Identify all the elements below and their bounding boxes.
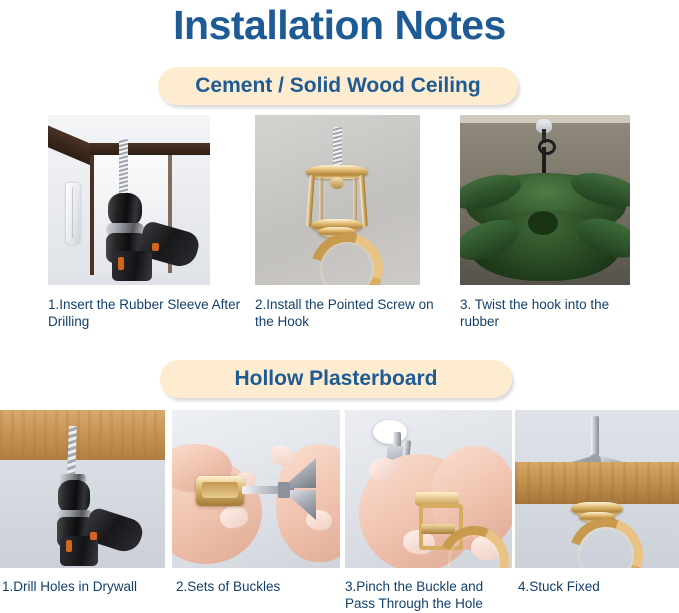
section-badge-label: Hollow Plasterboard <box>234 367 437 391</box>
step-image-drill-holes-in-drywall <box>0 410 165 568</box>
step-caption-install-pointed-screw: 2.Install the Pointed Screw on the Hook <box>255 296 445 330</box>
step-image-stuck-fixed <box>515 410 679 568</box>
section-badge-label: Cement / Solid Wood Ceiling <box>195 74 480 98</box>
page-title: Installation Notes <box>0 2 679 48</box>
step-caption-stuck-fixed: 4.Stuck Fixed <box>518 578 668 595</box>
step-image-install-pointed-screw <box>255 115 420 285</box>
step-caption-pinch-the-buckle: 3.Pinch the Buckle and Pass Through the … <box>345 578 515 612</box>
step-image-twist-hook-into-rubber <box>460 115 630 285</box>
step-caption-drill-holes-in-drywall: 1.Drill Holes in Drywall <box>2 578 172 595</box>
step-caption-twist-hook-into-rubber: 3. Twist the hook into the rubber <box>460 296 650 330</box>
step-image-sets-of-buckles <box>172 410 340 568</box>
step-image-pinch-the-buckle <box>345 410 512 568</box>
step-caption-insert-rubber-sleeve: 1.Insert the Rubber Sleeve After Drillin… <box>48 296 248 330</box>
step-caption-sets-of-buckles: 2.Sets of Buckles <box>176 578 336 595</box>
step-image-insert-rubber-sleeve <box>48 115 210 285</box>
section-badge-cement-solid-wood-ceiling: Cement / Solid Wood Ceiling <box>158 67 518 105</box>
section-badge-hollow-plasterboard: Hollow Plasterboard <box>160 360 512 398</box>
